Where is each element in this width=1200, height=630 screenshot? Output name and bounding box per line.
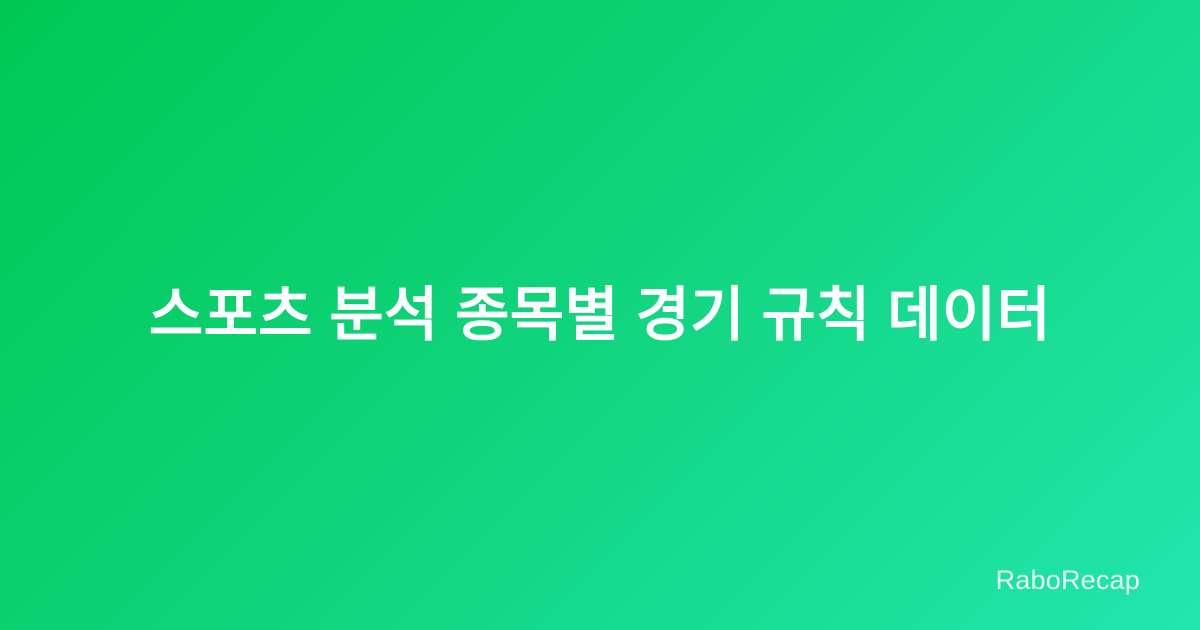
social-share-card: 스포츠 분석 종목별 경기 규칙 데이터 RaboRecap [0,0,1200,630]
title-container: 스포츠 분석 종목별 경기 규칙 데이터 [0,0,1200,630]
brand-watermark: RaboRecap [996,567,1140,594]
page-title: 스포츠 분석 종목별 경기 규칙 데이터 [149,277,1051,354]
